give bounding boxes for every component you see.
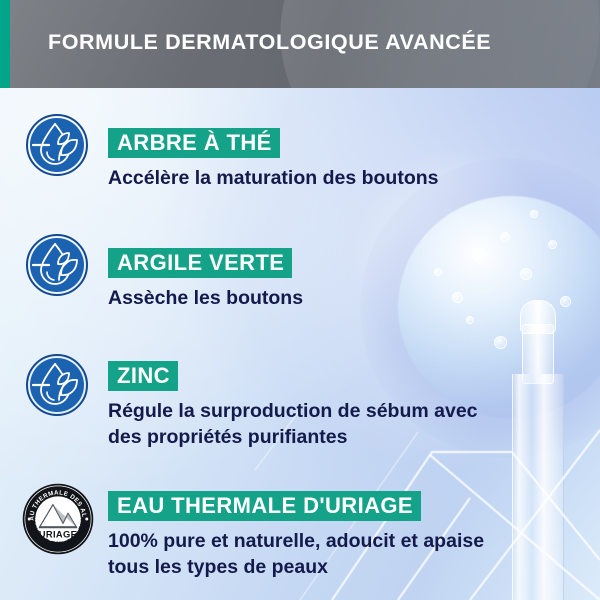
ingredient-row: L'EAU THERMALE DES ALPES FRENCH ALPS THE… [0, 483, 600, 600]
ingredient-row: ZINC Régule la surproduction de sébum av… [0, 353, 600, 473]
ingredient-row: ARGILE VERTE Assèche les boutons [0, 233, 600, 329]
water-drop-leaf-icon [25, 113, 89, 177]
ingredient-name-chip: EAU THERMALE D'URIAGE [108, 491, 421, 521]
header-banner: FORMULE DERMATOLOGIQUE AVANCÉE [0, 0, 600, 88]
ingredient-description: 100% pure et naturelle, adoucit et apais… [108, 528, 484, 580]
header-accent-bar [0, 0, 10, 88]
product-feature-poster: FORMULE DERMATOLOGIQUE AVANCÉE ARBRE À T… [0, 0, 600, 600]
ingredient-name-chip: ARBRE À THÉ [108, 128, 280, 158]
page-title: FORMULE DERMATOLOGIQUE AVANCÉE [48, 30, 491, 55]
ingredient-description: Accélère la maturation des boutons [108, 165, 439, 191]
ingredient-name-chip: ARGILE VERTE [108, 248, 292, 278]
uriage-seal-logo: L'EAU THERMALE DES ALPES FRENCH ALPS THE… [22, 483, 94, 555]
ingredient-description: Assèche les boutons [108, 285, 303, 311]
water-drop-leaf-icon [25, 233, 89, 297]
ingredient-description: Régule la surproduction de sébum avec de… [108, 398, 478, 450]
svg-text:URIAGE: URIAGE [39, 530, 78, 540]
ingredient-row: ARBRE À THÉ Accélère la maturation des b… [0, 113, 600, 209]
water-drop-leaf-icon [25, 353, 89, 417]
ingredient-name-chip: ZINC [108, 361, 178, 391]
